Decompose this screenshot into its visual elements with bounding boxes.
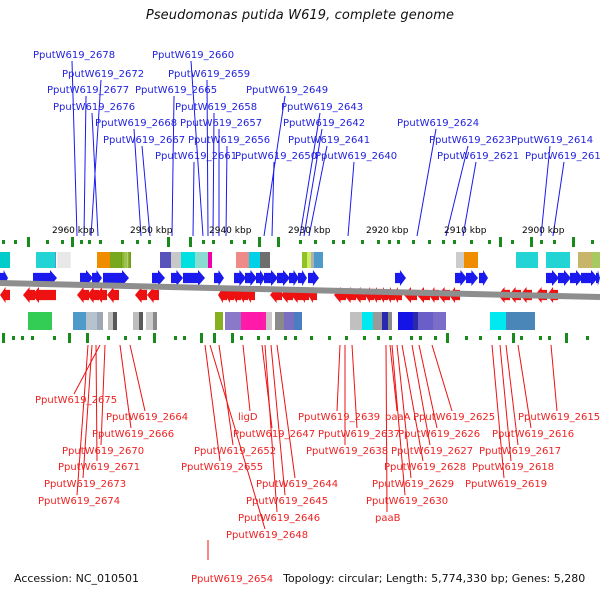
forward-gene-label[interactable]: PputW619_2660: [152, 50, 234, 61]
forward-gene-label[interactable]: PputW619_2657: [180, 118, 262, 129]
reverse-gene-label[interactable]: PputW619_2626: [398, 429, 480, 440]
forward-gene-label[interactable]: PputW619_2661: [155, 151, 237, 162]
reverse-gene-label[interactable]: PputW619_2673: [44, 479, 126, 490]
reverse-gene-label[interactable]: paaA: [385, 412, 410, 423]
genome-axis-line[interactable]: [0, 283, 600, 297]
forward-gene-label[interactable]: PputW619_2676: [53, 102, 135, 113]
forward-gene-label[interactable]: PputW619_2643: [281, 102, 363, 113]
reverse-gene-label[interactable]: PputW619_2638: [306, 446, 388, 457]
status-bar: Accession: NC_010501PputW619_2654Topolog…: [14, 572, 585, 585]
forward-gene-label[interactable]: PputW619_2642: [283, 118, 365, 129]
forward-gene-label[interactable]: PputW619_2668: [95, 118, 177, 129]
reverse-gene-label[interactable]: PputW619_2618: [472, 462, 554, 473]
reverse-gene-label[interactable]: PputW619_2625: [413, 412, 495, 423]
genome-details-label: Topology: circular; Length: 5,774,330 bp…: [283, 572, 585, 585]
reverse-gene-label[interactable]: PputW619_2630: [366, 496, 448, 507]
forward-gene-label[interactable]: PputW619_2621: [437, 151, 519, 162]
reverse-gene-label[interactable]: PputW619_2639: [298, 412, 380, 423]
reverse-gene-label[interactable]: PputW619_2647: [233, 429, 315, 440]
forward-gene-label[interactable]: PputW619_2672: [62, 69, 144, 80]
reverse-gene-label[interactable]: paaB: [375, 513, 400, 524]
forward-gene-label[interactable]: PputW619_2624: [397, 118, 479, 129]
reverse-gene-label[interactable]: PputW619_2674: [38, 496, 120, 507]
reverse-gene-label[interactable]: PputW619_2670: [62, 446, 144, 457]
forward-gene-label[interactable]: PputW619_2613: [525, 151, 600, 162]
forward-gene-label[interactable]: PputW619_2665: [135, 85, 217, 96]
accession-label: Accession: NC_010501: [14, 572, 139, 585]
reverse-gene-label[interactable]: PputW619_2655: [181, 462, 263, 473]
reverse-gene-label[interactable]: PputW619_2617: [479, 446, 561, 457]
forward-gene-label[interactable]: PputW619_2614: [511, 135, 593, 146]
forward-gene-label[interactable]: PputW619_2623: [429, 135, 511, 146]
reverse-gene-label[interactable]: PputW619_2644: [256, 479, 338, 490]
highlight-gene-label: PputW619_2654: [191, 574, 273, 585]
reverse-gene-label[interactable]: PputW619_2646: [238, 513, 320, 524]
reverse-gene-label[interactable]: PputW619_2619: [465, 479, 547, 490]
forward-gene-label[interactable]: PputW619_2650: [235, 151, 317, 162]
reverse-gene-label[interactable]: PputW619_2637: [318, 429, 400, 440]
reverse-gene-label[interactable]: PputW619_2666: [92, 429, 174, 440]
reverse-gene-label[interactable]: PputW619_2664: [106, 412, 188, 423]
forward-gene-label[interactable]: PputW619_2678: [33, 50, 115, 61]
forward-gene-label[interactable]: PputW619_2667: [103, 135, 185, 146]
forward-gene-label[interactable]: PputW619_2677: [47, 85, 129, 96]
reverse-gene-label[interactable]: PputW619_2648: [226, 530, 308, 541]
reverse-gene-label[interactable]: PputW619_2675: [35, 395, 117, 406]
reverse-gene-label[interactable]: PputW619_2645: [246, 496, 328, 507]
reverse-gene-label[interactable]: PputW619_2615: [518, 412, 600, 423]
reverse-gene-label[interactable]: ligD: [238, 412, 258, 423]
forward-gene-label[interactable]: PputW619_2649: [246, 85, 328, 96]
reverse-gene-label[interactable]: PputW619_2629: [372, 479, 454, 490]
reverse-gene-label[interactable]: PputW619_2652: [194, 446, 276, 457]
reverse-gene-label[interactable]: PputW619_2671: [58, 462, 140, 473]
reverse-gene-label[interactable]: PputW619_2628: [384, 462, 466, 473]
reverse-gene-label[interactable]: PputW619_2627: [391, 446, 473, 457]
forward-gene-label[interactable]: PputW619_2656: [188, 135, 270, 146]
forward-gene-label[interactable]: PputW619_2659: [168, 69, 250, 80]
reverse-gene-label[interactable]: PputW619_2616: [492, 429, 574, 440]
forward-gene-label[interactable]: PputW619_2641: [288, 135, 370, 146]
forward-gene-label[interactable]: PputW619_2640: [315, 151, 397, 162]
forward-gene-label[interactable]: PputW619_2658: [175, 102, 257, 113]
